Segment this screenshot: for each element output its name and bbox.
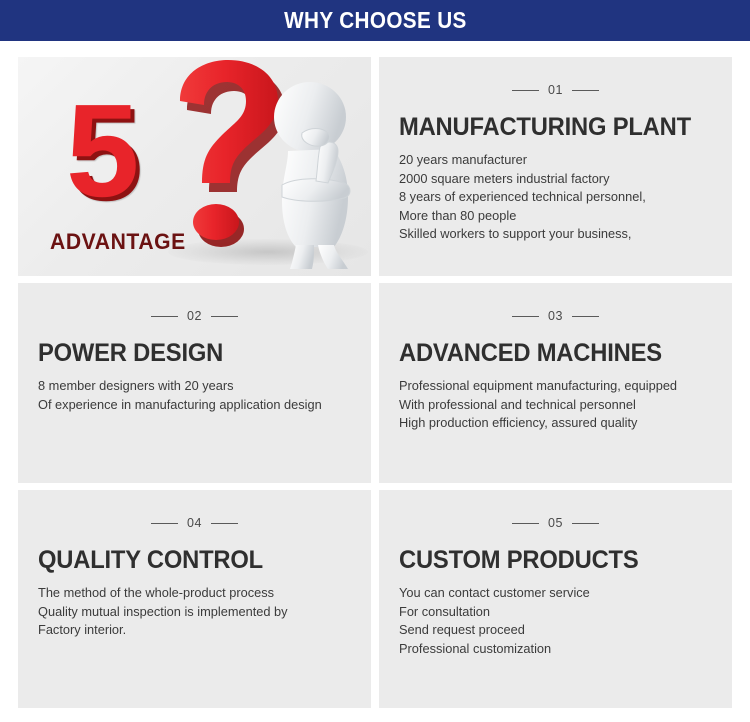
advantage-card-05: 05 CUSTOM PRODUCTS You can contact custo… — [379, 490, 732, 708]
card-line: 2000 square meters industrial factory — [399, 170, 703, 189]
card-line: Professional equipment manufacturing, eq… — [399, 377, 703, 396]
card-number: 04 — [187, 516, 202, 530]
thinking-person-icon — [256, 69, 371, 276]
card-line: Quality mutual inspection is implemented… — [38, 603, 342, 622]
card-line: 20 years manufacturer — [399, 151, 703, 170]
five-number-graphic: 5 — [66, 85, 139, 217]
advantage-card-01: 01 MANUFACTURING PLANT 20 years manufact… — [379, 57, 732, 276]
dash-left-icon — [151, 523, 178, 524]
card-title: MANUFACTURING PLANT — [399, 113, 696, 142]
advantage-illustration: 5 ADVANTAGE — [18, 57, 371, 276]
dash-right-icon — [211, 523, 238, 524]
dash-right-icon — [211, 316, 238, 317]
page-title: WHY CHOOSE US — [284, 7, 467, 34]
card-number-row: 05 — [379, 490, 732, 538]
card-body: ADVANCED MACHINES Professional equipment… — [379, 339, 732, 433]
card-number-row: 02 — [18, 283, 371, 331]
card-line-list: 8 member designers with 20 years Of expe… — [38, 377, 351, 414]
card-line: The method of the whole-product process — [38, 584, 342, 603]
advantage-card-03: 03 ADVANCED MACHINES Professional equipm… — [379, 283, 732, 483]
card-title: QUALITY CONTROL — [38, 546, 335, 575]
card-title: ADVANCED MACHINES — [399, 339, 696, 368]
card-line-list: The method of the whole-product process … — [38, 584, 351, 640]
card-line: 8 years of experienced technical personn… — [399, 188, 703, 207]
card-line: More than 80 people — [399, 207, 703, 226]
dash-right-icon — [572, 90, 599, 91]
card-line: Skilled workers to support your business… — [399, 225, 703, 244]
advantage-card-02: 02 POWER DESIGN 8 member designers with … — [18, 283, 371, 483]
card-line: Of experience in manufacturing applicati… — [38, 396, 342, 415]
card-line: High production efficiency, assured qual… — [399, 414, 703, 433]
card-line: For consultation — [399, 603, 703, 622]
card-line: Factory interior. — [38, 621, 342, 640]
card-number-row: 03 — [379, 283, 732, 331]
card-number-row: 01 — [379, 57, 732, 105]
card-line: With professional and technical personne… — [399, 396, 703, 415]
card-number: 02 — [187, 309, 202, 323]
card-body: POWER DESIGN 8 member designers with 20 … — [18, 339, 371, 414]
card-line: Professional customization — [399, 640, 703, 659]
dash-right-icon — [572, 316, 599, 317]
dash-right-icon — [572, 523, 599, 524]
card-line: 8 member designers with 20 years — [38, 377, 342, 396]
advantage-card-04: 04 QUALITY CONTROL The method of the who… — [18, 490, 371, 708]
card-line: Send request proceed — [399, 621, 703, 640]
card-line: You can contact customer service — [399, 584, 703, 603]
card-body: QUALITY CONTROL The method of the whole-… — [18, 546, 371, 640]
page-header-banner: WHY CHOOSE US — [0, 0, 750, 41]
card-line-list: Professional equipment manufacturing, eq… — [399, 377, 712, 433]
card-number: 03 — [548, 309, 563, 323]
feature-illustration-card: 5 ADVANTAGE — [18, 57, 371, 276]
dash-left-icon — [151, 316, 178, 317]
card-body: MANUFACTURING PLANT 20 years manufacture… — [379, 113, 732, 244]
dash-left-icon — [512, 90, 539, 91]
card-line-list: 20 years manufacturer 2000 square meters… — [399, 151, 712, 244]
dash-left-icon — [512, 316, 539, 317]
dash-left-icon — [512, 523, 539, 524]
card-title: POWER DESIGN — [38, 339, 335, 368]
card-number: 05 — [548, 516, 563, 530]
card-line-list: You can contact customer service For con… — [399, 584, 712, 658]
card-title: CUSTOM PRODUCTS — [399, 546, 696, 575]
card-number: 01 — [548, 83, 563, 97]
advantages-grid: 5 ADVANTAGE — [0, 41, 750, 722]
card-number-row: 04 — [18, 490, 371, 538]
card-body: CUSTOM PRODUCTS You can contact customer… — [379, 546, 732, 658]
